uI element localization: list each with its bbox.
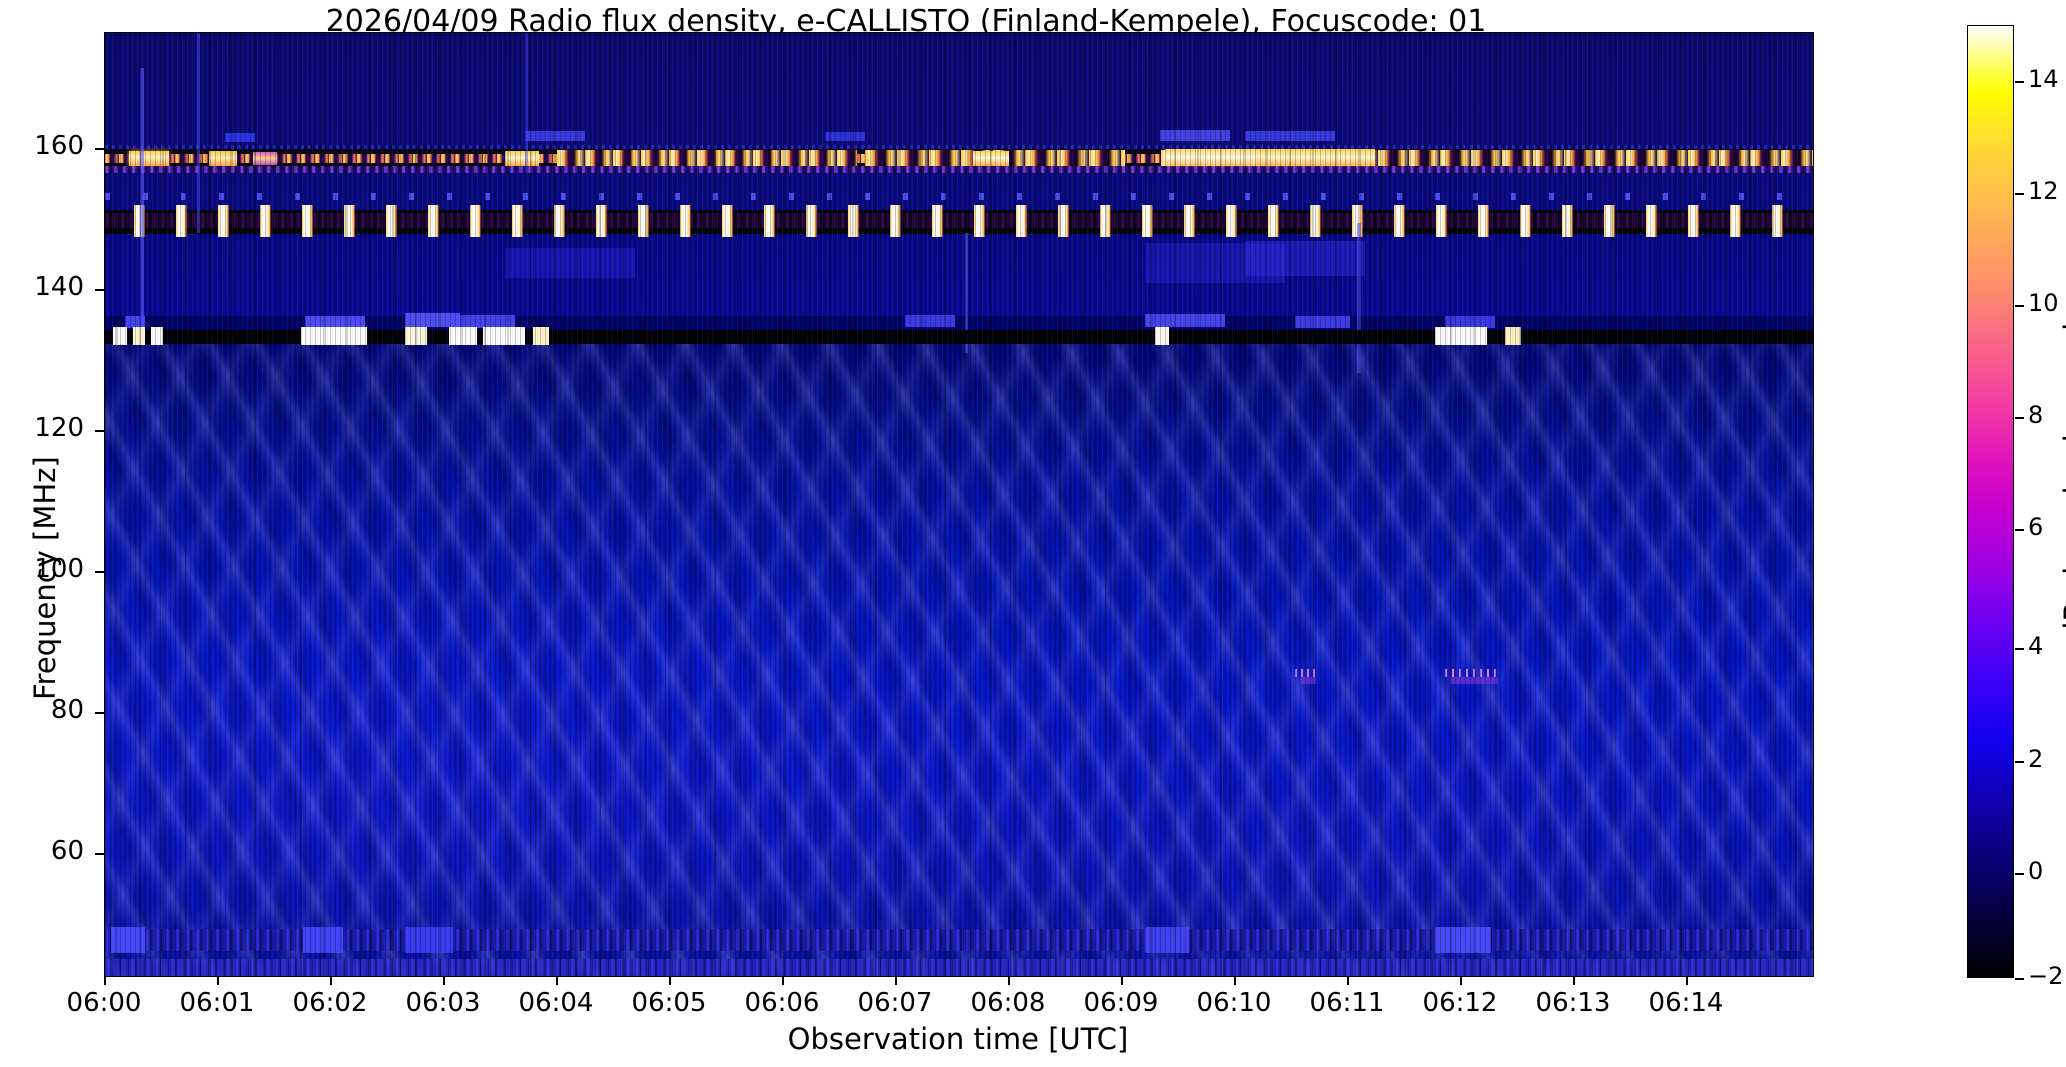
x-tick-label: 06:04 [510, 988, 602, 1018]
y-tick-label: 60 [0, 836, 84, 866]
colorbar-tick-label: 0 [2028, 857, 2043, 885]
x-tick-mark [1573, 976, 1575, 985]
colorbar-tick-label: 14 [2028, 65, 2059, 93]
colorbar-tick-mark [2015, 648, 2024, 650]
y-tick-mark [95, 853, 104, 855]
x-tick-label: 06:09 [1075, 988, 1167, 1018]
x-tick-mark [1008, 976, 1010, 985]
scanline-overlay-coarse [105, 33, 1813, 976]
x-tick-mark [782, 976, 784, 985]
colorbar-tick-mark [2015, 873, 2024, 875]
colorbar-tick-mark [2015, 81, 2024, 83]
x-tick-mark [217, 976, 219, 985]
colorbar-tick-mark [2015, 761, 2024, 763]
x-tick-mark [669, 976, 671, 985]
x-tick-mark [330, 976, 332, 985]
y-tick-label: 120 [0, 413, 84, 443]
y-tick-mark [95, 712, 104, 714]
x-tick-label: 06:05 [623, 988, 715, 1018]
y-tick-mark [95, 289, 104, 291]
x-tick-label: 06:03 [397, 988, 489, 1018]
x-tick-mark [1234, 976, 1236, 985]
x-tick-label: 06:00 [58, 988, 150, 1018]
x-tick-mark [1121, 976, 1123, 985]
colorbar-tick-label: 4 [2028, 632, 2043, 660]
x-tick-mark [443, 976, 445, 985]
x-tick-label: 06:08 [962, 988, 1054, 1018]
colorbar-tick-mark [2015, 529, 2024, 531]
colorbar-tick-label: 2 [2028, 745, 2043, 773]
colorbar-tick-mark [2015, 978, 2024, 980]
x-tick-label: 06:02 [284, 988, 376, 1018]
x-tick-label: 06:12 [1414, 988, 1506, 1018]
x-tick-label: 06:13 [1527, 988, 1619, 1018]
y-axis-title: Frequency [MHz] [28, 456, 62, 700]
x-tick-mark [556, 976, 558, 985]
colorbar-tick-label: 12 [2028, 177, 2059, 205]
colorbar [1967, 25, 2014, 978]
colorbar-title: dB above background [2058, 323, 2066, 640]
figure-canvas: 2026/04/09 Radio flux density, e-CALLIST… [0, 0, 2066, 1067]
colorbar-tick-label: 8 [2028, 401, 2043, 429]
y-tick-mark [95, 571, 104, 573]
x-tick-label: 06:11 [1301, 988, 1393, 1018]
x-tick-label: 06:01 [171, 988, 263, 1018]
x-tick-label: 06:14 [1640, 988, 1732, 1018]
colorbar-tick-label: 10 [2028, 289, 2059, 317]
x-axis-title: Observation time [UTC] [104, 1022, 1812, 1056]
colorbar-tick-mark [2015, 417, 2024, 419]
x-tick-label: 06:06 [736, 988, 828, 1018]
y-tick-label: 140 [0, 272, 84, 302]
colorbar-tick-mark [2015, 305, 2024, 307]
x-tick-mark [1460, 976, 1462, 985]
y-tick-mark [95, 148, 104, 150]
spectrogram-panel [104, 32, 1814, 977]
y-tick-label: 160 [0, 131, 84, 161]
x-tick-label: 06:10 [1188, 988, 1280, 1018]
x-tick-label: 06:07 [849, 988, 941, 1018]
x-tick-mark [1347, 976, 1349, 985]
y-tick-mark [95, 430, 104, 432]
x-tick-mark [1686, 976, 1688, 985]
colorbar-tick-mark [2015, 193, 2024, 195]
colorbar-tick-label: −2 [2028, 962, 2063, 990]
colorbar-tick-label: 6 [2028, 513, 2043, 541]
x-tick-mark [104, 976, 106, 985]
x-tick-mark [895, 976, 897, 985]
